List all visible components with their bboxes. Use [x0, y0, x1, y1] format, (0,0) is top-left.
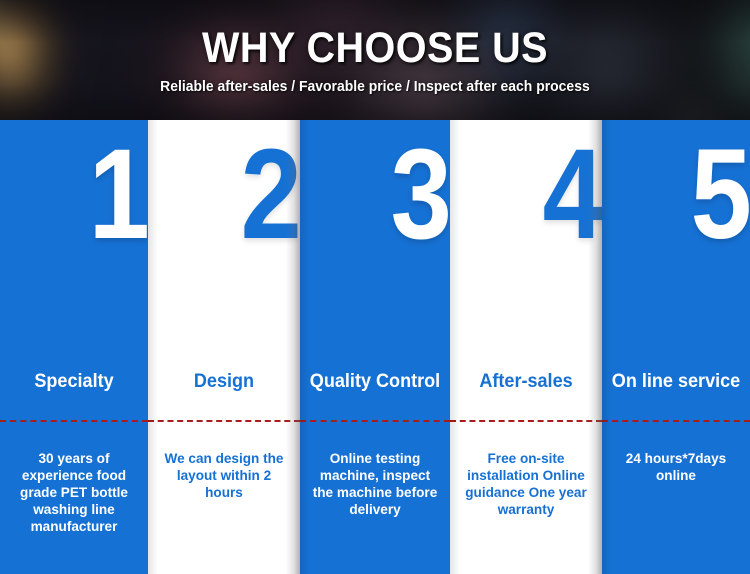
card-body-text: 30 years of experience food grade PET bo… [2, 450, 146, 535]
card-number: 3 [390, 136, 450, 254]
banner-text-block: WHY CHOOSE US Reliable after-sales / Fav… [0, 0, 750, 120]
feature-card-specialty[interactable]: 1 Specialty 30 years of experience food … [0, 120, 148, 574]
card-body-text: Online testing machine, inspect the mach… [302, 450, 448, 518]
feature-card-after-sales[interactable]: 4 After-sales Free on-site installation … [450, 120, 602, 574]
page-title: WHY CHOOSE US [202, 27, 548, 70]
card-number: 4 [542, 136, 602, 254]
feature-cards-row: 1 Specialty 30 years of experience food … [0, 120, 750, 574]
card-divider [300, 420, 450, 422]
header-banner: WHY CHOOSE US Reliable after-sales / Fav… [0, 0, 750, 120]
card-divider [148, 420, 300, 422]
card-heading: After-sales [454, 372, 598, 391]
card-heading: Quality Control [304, 372, 447, 391]
card-number: 1 [88, 136, 148, 254]
card-divider [602, 420, 750, 422]
feature-card-quality-control[interactable]: 3 Quality Control Online testing machine… [300, 120, 450, 574]
page-subtitle: Reliable after-sales / Favorable price /… [160, 79, 590, 94]
card-heading: Specialty [4, 372, 145, 391]
feature-card-online-service[interactable]: 5 On line service 24 hours*7days online [602, 120, 750, 574]
card-body-text: Free on-site installation Online guidanc… [452, 450, 599, 518]
card-body-text: 24 hours*7days online [604, 450, 748, 484]
card-heading: On line service [606, 372, 747, 391]
card-divider [0, 420, 148, 422]
card-divider [450, 420, 602, 422]
card-body-text: We can design the layout within 2 hours [150, 450, 297, 501]
card-heading: Design [152, 372, 296, 391]
card-number: 2 [240, 136, 300, 254]
feature-card-design[interactable]: 2 Design We can design the layout within… [148, 120, 300, 574]
card-number: 5 [690, 136, 750, 254]
